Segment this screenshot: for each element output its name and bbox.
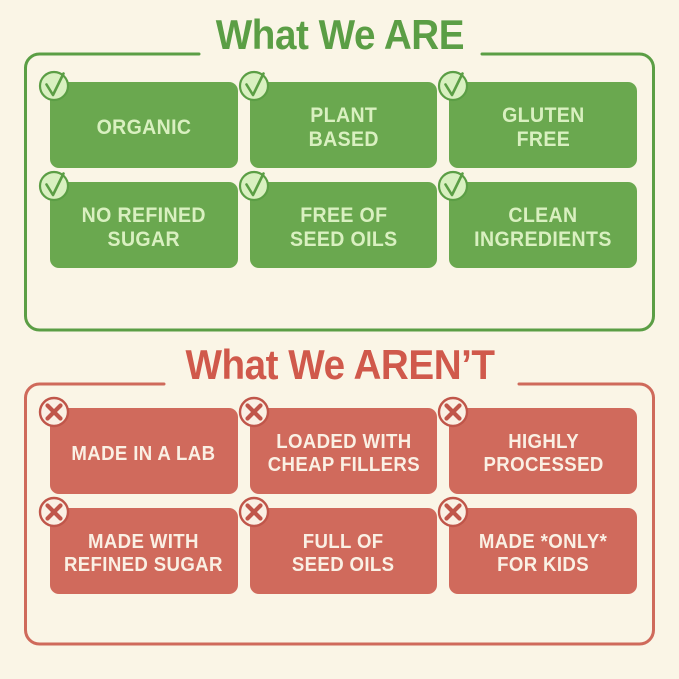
check-circle-icon	[236, 168, 272, 204]
cross-circle-icon	[36, 394, 72, 430]
cross-circle-icon	[36, 494, 72, 530]
tile-label: ORGANIC	[96, 116, 191, 140]
tile-made-in-a-lab[interactable]: MADE IN A LAB	[50, 408, 238, 494]
tile-grid-what-we-are: ORGANIC PLANT BASED GL	[50, 82, 637, 268]
section-title-text: What We ARE	[202, 6, 476, 64]
tile-label: PLANT BASED	[308, 104, 378, 152]
section-what-we-arent: What We AREN’T MADE IN A LAB	[24, 370, 655, 646]
tile-made-with-refined-sugar[interactable]: MADE WITH REFINED SUGAR	[50, 508, 238, 594]
tile-label: HIGHLY PROCESSED	[483, 431, 603, 477]
tile-highly-processed[interactable]: HIGHLY PROCESSED	[449, 408, 637, 494]
tile-label: MADE WITH REFINED SUGAR	[64, 531, 223, 577]
check-circle-icon	[236, 68, 272, 104]
tile-loaded-with-cheap-fillers[interactable]: LOADED WITH CHEAP FILLERS	[250, 408, 438, 494]
section-title-what-we-are: What We ARE	[24, 6, 655, 64]
tile-label: GLUTEN FREE	[502, 104, 585, 152]
section-what-we-are: What We ARE ORGANIC	[24, 40, 655, 332]
infographic-root: What We ARE ORGANIC	[0, 0, 679, 679]
cross-circle-icon	[435, 394, 471, 430]
cross-circle-icon	[435, 494, 471, 530]
check-circle-icon	[36, 168, 72, 204]
tile-label: MADE IN A LAB	[72, 443, 216, 466]
section-title-text: What We AREN’T	[172, 336, 507, 394]
tile-no-refined-sugar[interactable]: NO REFINED SUGAR	[50, 182, 238, 268]
tile-plant-based[interactable]: PLANT BASED	[250, 82, 438, 168]
tile-label: FREE OF SEED OILS	[290, 204, 398, 252]
tile-label: NO REFINED SUGAR	[82, 204, 206, 252]
tile-full-of-seed-oils[interactable]: FULL OF SEED OILS	[250, 508, 438, 594]
tile-label: FULL OF SEED OILS	[292, 531, 395, 577]
tile-free-of-seed-oils[interactable]: FREE OF SEED OILS	[250, 182, 438, 268]
tile-label: LOADED WITH CHEAP FILLERS	[267, 431, 419, 477]
tile-organic[interactable]: ORGANIC	[50, 82, 238, 168]
tile-clean-ingredients[interactable]: CLEAN INGREDIENTS	[449, 182, 637, 268]
check-circle-icon	[435, 168, 471, 204]
section-title-what-we-arent: What We AREN’T	[24, 336, 655, 394]
check-circle-icon	[36, 68, 72, 104]
cross-circle-icon	[236, 494, 272, 530]
cross-circle-icon	[236, 394, 272, 430]
tile-label: MADE *ONLY* FOR KIDS	[479, 531, 607, 577]
check-circle-icon	[435, 68, 471, 104]
tile-label: CLEAN INGREDIENTS	[474, 204, 612, 252]
tile-gluten-free[interactable]: GLUTEN FREE	[449, 82, 637, 168]
tile-made-only-for-kids[interactable]: MADE *ONLY* FOR KIDS	[449, 508, 637, 594]
tile-grid-what-we-arent: MADE IN A LAB LOADED WITH CHEAP FILLERS	[50, 408, 637, 594]
